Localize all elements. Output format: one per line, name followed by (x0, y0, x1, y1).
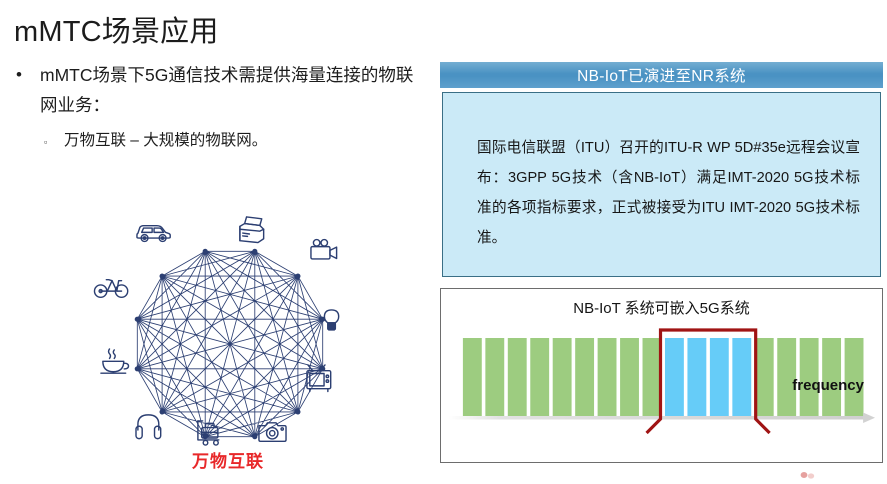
spectrum-bars (463, 338, 864, 417)
spectrum-bar (485, 338, 504, 417)
info-card-header: NB-IoT已演进至NR系统 (440, 62, 883, 88)
spectrum-bar (822, 338, 841, 417)
bullet-text-level2: 万物互联 – 大规模的物联网。 (64, 127, 267, 155)
spectrum-bar (687, 338, 706, 417)
bicycle-icon (94, 280, 127, 298)
decorative-mark (800, 466, 816, 474)
headphones-icon (136, 415, 161, 439)
car-icon (137, 226, 170, 242)
spectrum-bar (508, 338, 527, 417)
spectrum-bar (643, 338, 662, 417)
spectrum-bar (665, 338, 684, 417)
bullet-marker-level2: ▫ (44, 127, 64, 157)
bullet-item-level2: ▫ 万物互联 – 大规模的物联网。 (16, 127, 416, 157)
spectrum-bar (575, 338, 594, 417)
bullet-marker-level1: • (16, 60, 40, 90)
spectrum-chart-svg (441, 317, 882, 435)
info-card: NB-IoT已演进至NR系统 国际电信联盟（ITU）召开的ITU-R WP 5D… (440, 62, 883, 277)
iot-network-svg (78, 212, 378, 477)
spectrum-bar (620, 338, 639, 417)
spectrum-bar (800, 338, 819, 417)
spectrum-bar (845, 338, 864, 417)
spectrum-chart-title: NB-IoT 系统可嵌入5G系统 (441, 297, 882, 318)
video-camera-icon (311, 240, 337, 259)
bullet-list: • mMTC场景下5G通信技术需提供海量连接的物联网业务： ▫ 万物互联 – 大… (16, 60, 416, 157)
info-card-text: 国际电信联盟（ITU）召开的ITU-R WP 5D#35e远程会议宣布：3GPP… (477, 133, 860, 253)
iot-caption: 万物互联 (78, 447, 378, 472)
spectrum-bar (463, 338, 482, 417)
spectrum-card: NB-IoT 系统可嵌入5G系统 frequency (440, 288, 883, 463)
spectrum-bar (710, 338, 729, 417)
coffee-cup-icon (101, 349, 129, 373)
spectrum-bar (598, 338, 617, 417)
info-card-body: 国际电信联盟（ITU）召开的ITU-R WP 5D#35e远程会议宣布：3GPP… (442, 92, 881, 277)
spectrum-bar (530, 338, 549, 417)
bullet-text-level1: mMTC场景下5G通信技术需提供海量连接的物联网业务： (40, 60, 416, 120)
spectrum-bar (777, 338, 796, 417)
printer-icon (240, 217, 264, 243)
spectrum-bar (755, 338, 774, 417)
iot-network-graphic: 万物互联 (78, 212, 378, 477)
bullet-item-level1: • mMTC场景下5G通信技术需提供海量连接的物联网业务： (16, 60, 416, 120)
page-title: mMTC场景应用 (14, 8, 219, 50)
spectrum-bar (732, 338, 751, 417)
light-bulb-icon (324, 310, 338, 330)
spectrum-bar (553, 338, 572, 417)
